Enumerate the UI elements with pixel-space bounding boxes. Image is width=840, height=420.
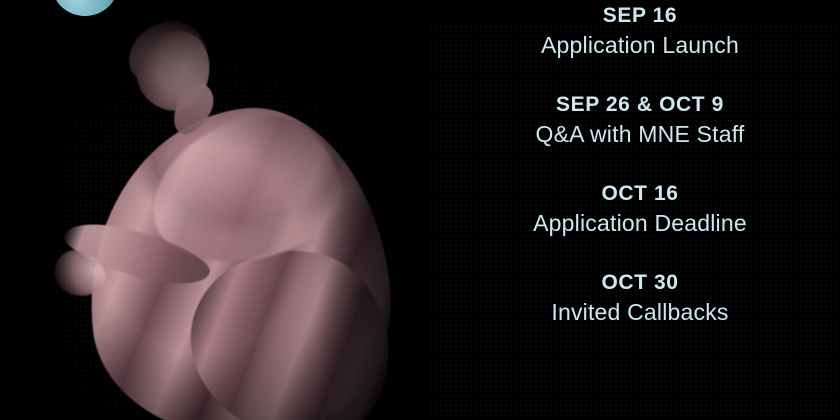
dancer-head: [126, 19, 223, 120]
dancer-neck: [165, 77, 220, 141]
schedule-item-label: Application Deadline: [440, 208, 840, 238]
dancer-arm: [59, 211, 215, 297]
schedule-item-date: SEP 26 & OCT 9: [440, 91, 840, 119]
schedule-item: OCT 16 Application Deadline: [440, 180, 840, 238]
schedule-item: SEP 16 Application Launch: [440, 2, 840, 60]
schedule-item: SEP 26 & OCT 9 Q&A with MNE Staff: [440, 91, 840, 149]
schedule-item: OCT 30 Invited Callbacks: [440, 269, 840, 327]
schedule-item-label: Q&A with MNE Staff: [440, 119, 840, 149]
dancer-drape-primary: [72, 95, 405, 420]
dancer-shoulder: [136, 99, 354, 281]
dancer-photo: [0, 0, 430, 420]
schedule-item-label: Application Launch: [440, 30, 840, 60]
dancer-drape-secondary: [176, 236, 403, 420]
schedule-item-date: SEP 16: [440, 2, 840, 30]
schedule-item-label: Invited Callbacks: [440, 297, 840, 327]
dancer-hair: [123, 16, 211, 91]
schedule-item-date: OCT 16: [440, 180, 840, 208]
figure-vignette: [0, 0, 430, 420]
dancer-hand: [47, 243, 113, 305]
schedule-list: SEP 16 Application Launch SEP 26 & OCT 9…: [440, 0, 840, 420]
poster-canvas: SEP 16 Application Launch SEP 26 & OCT 9…: [0, 0, 840, 420]
schedule-item-date: OCT 30: [440, 269, 840, 297]
